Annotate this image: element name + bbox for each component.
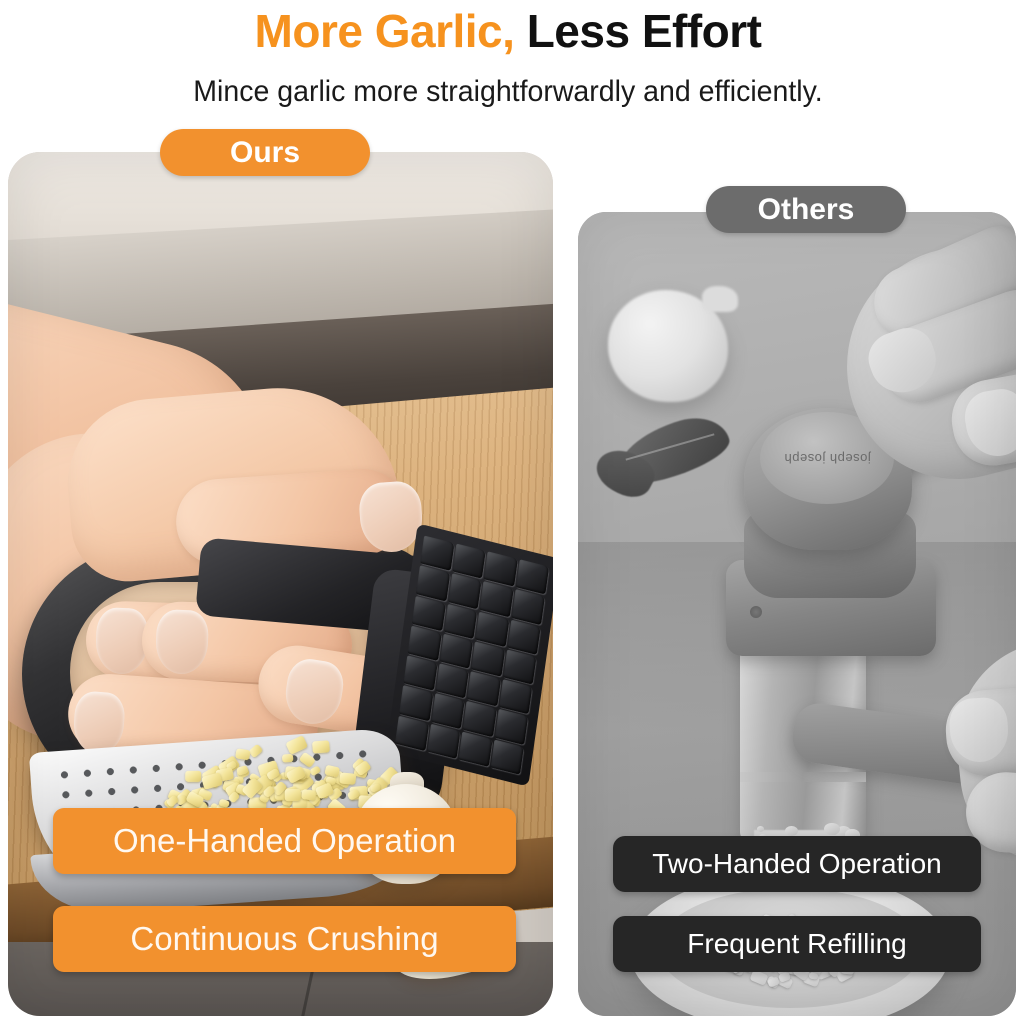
press-tooth <box>484 551 518 586</box>
minced-garlic-bit <box>185 771 201 783</box>
press-brand-text: joseph joseph <box>784 451 871 465</box>
minced-garlic-bit <box>312 740 330 753</box>
press-tooth <box>515 559 549 594</box>
badge-ours: Ours <box>160 129 370 176</box>
garlic-bulb-stem <box>702 286 738 312</box>
press-tooth <box>439 633 473 668</box>
press-tooth <box>479 581 513 616</box>
press-tooth <box>444 603 478 638</box>
press-tooth <box>416 565 450 600</box>
minced-garlic-bit <box>235 749 250 761</box>
title-accent-text: More Garlic, <box>255 5 515 57</box>
header: More Garlic, Less Effort Mince garlic mo… <box>0 0 1016 150</box>
feature-label-continuous-crushing: Continuous Crushing <box>53 906 516 972</box>
extruded-garlic-bit <box>757 826 764 832</box>
badge-others: Others <box>706 186 906 233</box>
minced-garlic-bit <box>284 789 301 801</box>
others-grayscale-scene: joseph joseph <box>578 212 1016 1016</box>
press-tooth <box>463 701 497 736</box>
press-tooth <box>475 611 509 646</box>
comparison-panel-others: joseph joseph <box>578 212 1016 1016</box>
press-cylinder-band <box>740 772 866 782</box>
page-title: More Garlic, Less Effort <box>0 4 1016 58</box>
feature-label-one-handed-operation: One-Handed Operation <box>53 808 516 874</box>
press-tooth <box>431 693 465 728</box>
page-subtitle: Mince garlic more straightforwardly and … <box>25 72 990 112</box>
minced-garlic-bit <box>201 773 223 791</box>
press-tooth <box>467 671 501 706</box>
press-tooth <box>452 543 486 578</box>
minced-garlic-bit <box>340 772 357 785</box>
press-tooth <box>507 619 541 654</box>
minced-garlic-bit <box>282 754 294 763</box>
press-tooth <box>420 535 454 570</box>
press-tooth <box>408 625 442 660</box>
bowl-garlic-bit <box>750 970 769 986</box>
comparison-panel-ours <box>8 152 553 1016</box>
extruded-garlic-bit <box>824 823 839 835</box>
press-tooth <box>435 663 469 698</box>
feature-label-frequent-refilling: Frequent Refilling <box>613 916 981 972</box>
press-tooth <box>471 641 505 676</box>
press-pivot-screw <box>750 606 762 618</box>
extruded-garlic-bit <box>785 826 798 836</box>
press-tooth <box>499 679 533 714</box>
press-tooth <box>511 589 545 624</box>
press-tooth <box>412 595 446 630</box>
minced-garlic-bit <box>248 744 263 758</box>
press-tooth <box>448 573 482 608</box>
press-tooth <box>503 649 537 684</box>
minced-garlic-bit <box>298 752 315 768</box>
press-tooth <box>494 709 528 744</box>
title-plain-text: Less Effort <box>527 5 762 57</box>
feature-label-two-handed-operation: Two-Handed Operation <box>613 836 981 892</box>
press-tooth <box>399 685 433 720</box>
press-tooth <box>403 655 437 690</box>
